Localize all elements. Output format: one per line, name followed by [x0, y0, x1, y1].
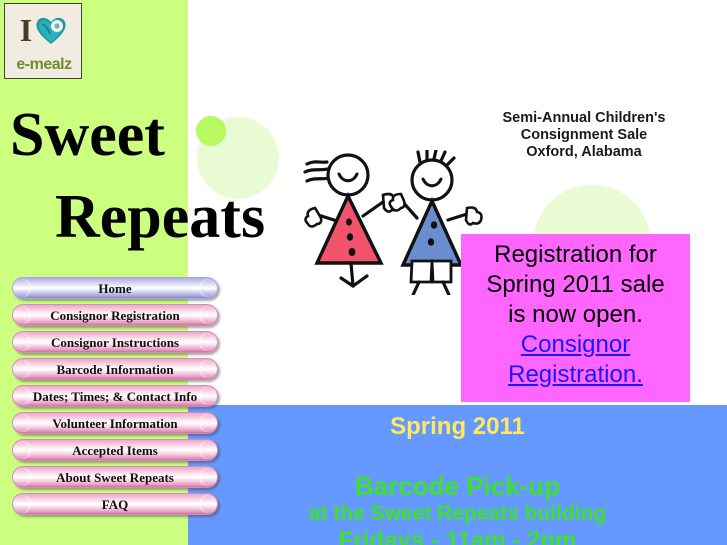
emealz-logo-text: e-mealz	[5, 56, 82, 74]
registration-announcement-box: Registration for Spring 2011 sale is now…	[461, 234, 690, 402]
nav-volunteer-information[interactable]: Volunteer Information	[12, 412, 218, 434]
nav-button-cap-right	[199, 306, 215, 324]
nav-about-sweet-repeats[interactable]: About Sweet Repeats	[12, 466, 218, 488]
sale-heading-line3: Oxford, Alabama	[470, 144, 698, 161]
nav-button-cap-right	[199, 387, 215, 405]
nav-consignor-registration[interactable]: Consignor Registration	[12, 304, 218, 326]
nav-button-cap-right	[199, 333, 215, 351]
nav-faq[interactable]: FAQ	[12, 493, 218, 515]
consignor-registration-link-line2[interactable]: Registration.	[461, 360, 690, 390]
nav-button-cap-right	[199, 495, 215, 513]
logo-letter-i: I	[20, 14, 31, 46]
emealz-logo-row: I	[5, 8, 82, 52]
heart-icon	[34, 15, 68, 45]
emealz-ad-banner[interactable]: I e-mealz	[4, 3, 82, 79]
nav-button-cap-left	[15, 387, 31, 405]
season-title: Spring 2011	[188, 413, 727, 441]
nav-button-cap-left	[15, 414, 31, 432]
nav-button-cap-left	[15, 333, 31, 351]
consignor-registration-link-line1[interactable]: Consignor	[461, 330, 690, 360]
nav-button-cap-left	[15, 468, 31, 486]
nav-barcode-information[interactable]: Barcode Information	[12, 358, 218, 380]
blue-info-panel-content: Spring 2011 Barcode Pick-up at the Sweet…	[188, 405, 727, 545]
nav-button-cap-right	[199, 279, 215, 297]
sale-heading-line1: Semi-Annual Children's	[470, 110, 698, 127]
nav-button-cap-left	[15, 441, 31, 459]
nav-dates-times-contact-info[interactable]: Dates; Times; & Contact Info	[12, 385, 218, 407]
nav-button-cap-left	[15, 306, 31, 324]
registration-line3: is now open.	[461, 300, 690, 330]
nav-home[interactable]: Home	[12, 277, 218, 299]
two-children-icon	[293, 150, 488, 295]
registration-line2: Spring 2011 sale	[461, 270, 690, 300]
page-root: I e-mealz Sweet Repeats Semi-Annual Chil…	[0, 0, 727, 545]
nav-consignor-instructions[interactable]: Consignor Instructions	[12, 331, 218, 353]
page-title-line1: Sweet	[10, 104, 165, 166]
main-navigation: HomeConsignor RegistrationConsignor Inst…	[12, 277, 218, 520]
nav-button-cap-right	[199, 441, 215, 459]
nav-button-cap-left	[15, 279, 31, 297]
nav-accepted-items[interactable]: Accepted Items	[12, 439, 218, 461]
nav-button-cap-left	[15, 360, 31, 378]
nav-button-cap-right	[199, 414, 215, 432]
barcode-pickup-hours: Fridays - 11am - 2pm	[188, 527, 727, 545]
nav-button-cap-right	[199, 360, 215, 378]
sale-heading: Semi-Annual Children's Consignment Sale …	[470, 110, 698, 161]
barcode-pickup-location: at the Sweet Repeats building	[188, 501, 727, 527]
watermark-circle-accent	[196, 116, 226, 146]
nav-button-cap-left	[15, 495, 31, 513]
barcode-pickup-title: Barcode Pick-up	[188, 471, 727, 501]
registration-line1: Registration for	[461, 240, 690, 270]
page-title-line2: Repeats	[55, 186, 265, 248]
nav-button-cap-right	[199, 468, 215, 486]
sale-heading-line2: Consignment Sale	[470, 127, 698, 144]
